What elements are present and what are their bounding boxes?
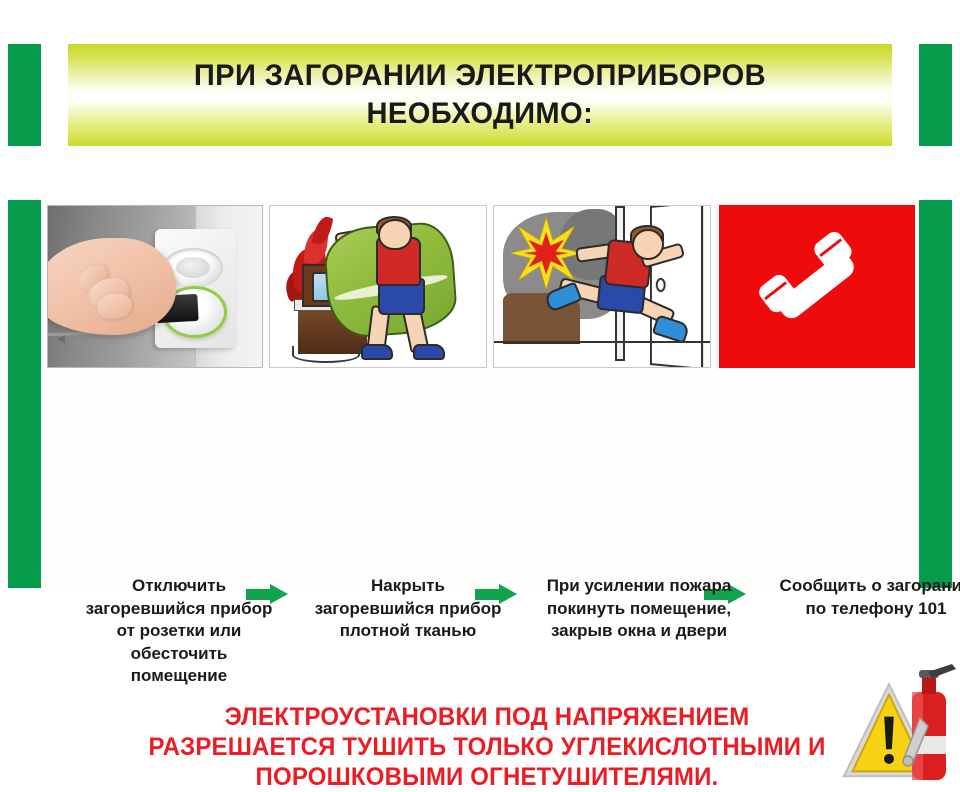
step-caption-3: При усилении пожара покинуть помещение, …: [538, 575, 740, 643]
body-green-bar-right: [919, 200, 952, 588]
page-title-line-1: ПРИ ЗАГОРАНИИ ЭЛЕКТРОПРИБОРОВ: [194, 57, 766, 95]
pull-direction-arrow-icon: [57, 335, 65, 343]
warning-line-3: ПОРОШКОВЫМИ ОГНЕТУШИТЕЛЯМИ.: [103, 762, 871, 792]
cover-burning-tv-with-blanket-illustration: [270, 206, 486, 367]
warning-line-1: ЭЛЕКТРОУСТАНОВКИ ПОД НАПРЯЖЕНИЕМ: [103, 702, 871, 732]
poster-content: Отключить загоревшийся прибор от розетки…: [41, 200, 919, 588]
title-banner: ПРИ ЗАГОРАНИИ ЭЛЕКТРОПРИБОРОВ НЕОБХОДИМО…: [68, 44, 892, 146]
unplug-device-from-socket-photo: [48, 206, 262, 367]
title-band: ПРИ ЗАГОРАНИИ ЭЛЕКТРОПРИБОРОВ НЕОБХОДИМО…: [0, 44, 960, 146]
hazard-illustration-group: [841, 662, 960, 788]
floor-line: [494, 341, 710, 343]
red-telephone-emergency-sign: [719, 205, 915, 368]
step-caption-1: Отключить загоревшийся прибор от розетки…: [84, 575, 274, 688]
step-images-row: [41, 205, 919, 375]
title-green-bar-right: [919, 44, 952, 146]
boy-head: [378, 219, 412, 250]
door-knob: [655, 277, 665, 292]
flame-3: [312, 214, 335, 246]
boy-fleeing-through-door-illustration: [494, 206, 710, 367]
body-green-bar-left: [8, 200, 41, 588]
hand: [47, 238, 176, 335]
warning-line-2: РАЗРЕШАЕТСЯ ТУШИТЬ ТОЛЬКО УГЛЕКИСЛОТНЫМИ…: [103, 732, 871, 762]
page-title-line-2: НЕОБХОДИМО:: [367, 95, 594, 133]
boy-shoe-right: [413, 344, 445, 359]
step-image-3-leave-room: [493, 205, 711, 368]
tv-power-cord: [292, 346, 361, 362]
telephone-handset-icon: [744, 226, 889, 347]
step-image-2-cover-with-blanket: [269, 205, 487, 368]
warning-text: ЭЛЕКТРОУСТАНОВКИ ПОД НАПРЯЖЕНИЕМ РАЗРЕША…: [87, 702, 887, 792]
fire-safety-poster: ПРИ ЗАГОРАНИИ ЭЛЕКТРОПРИБОРОВ НЕОБХОДИМО…: [0, 0, 960, 720]
fire-extinguisher-icon: [897, 662, 959, 786]
title-green-bar-left: [8, 44, 41, 146]
step-image-1-unplug-socket: [47, 205, 263, 368]
step-caption-2: Накрыть загоревшийся прибор плотной ткан…: [313, 575, 503, 643]
runner-head: [632, 229, 664, 260]
step-image-4-call-emergency: [719, 205, 915, 368]
boy-shoe-left: [361, 344, 393, 359]
step-caption-4: Сообщить о загорании по телефону 101: [776, 575, 960, 620]
